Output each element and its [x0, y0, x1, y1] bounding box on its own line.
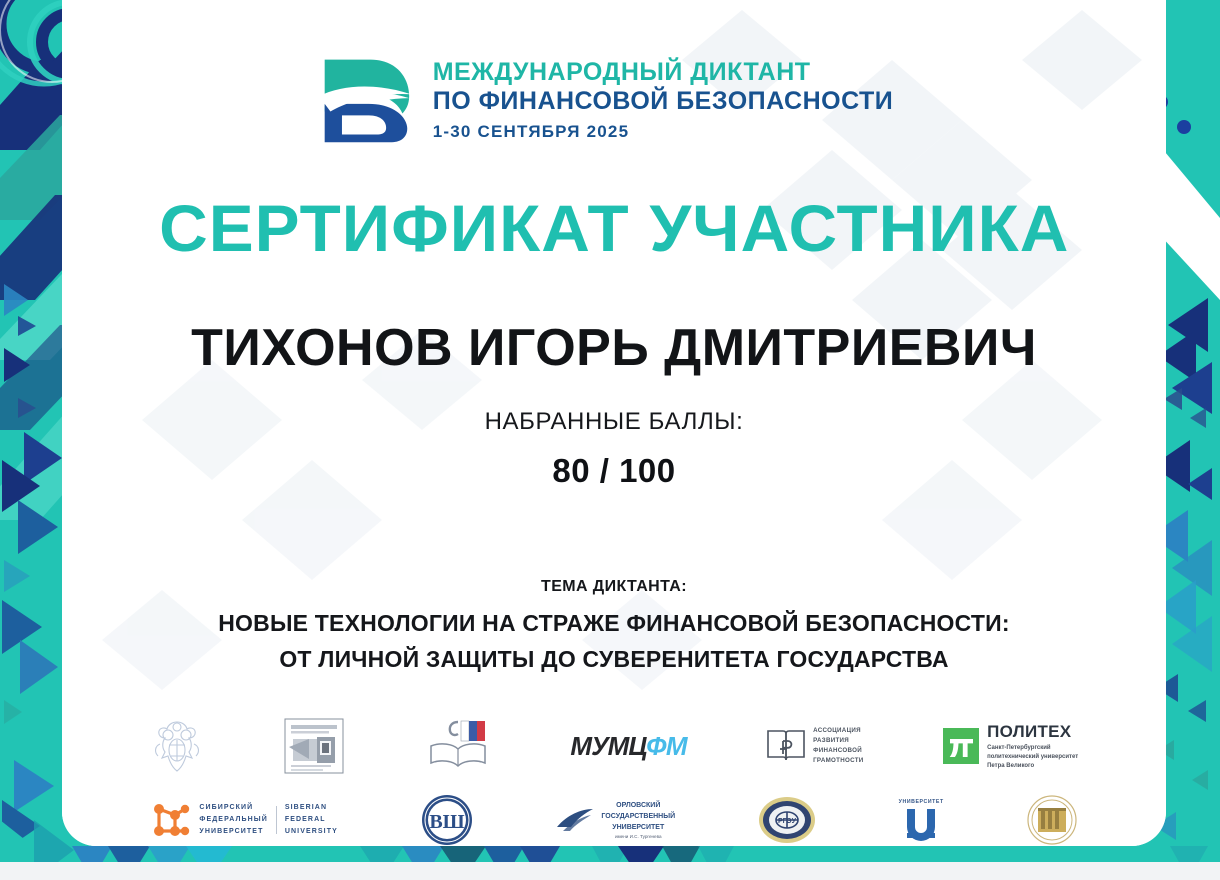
institute-emblem-icon — [283, 717, 345, 775]
partner-logo-hse: ВШ — [421, 789, 473, 846]
orel-text-block: ОРЛОВСКИЙ ГОСУДАРСТВЕННЫЙ УНИВЕРСИТЕТ им… — [601, 800, 675, 841]
sfu-ru-3: УНИВЕРСИТЕТ — [199, 826, 267, 838]
flag-book-emblem-icon — [425, 718, 491, 774]
orel-subtitle: имени И.С. Тургенева — [601, 833, 675, 840]
theme-label: ТЕМА ДИКТАНТА: — [541, 578, 687, 596]
partner-logo-politeh: ПОЛИТЕХ Санкт-Петербургский политехничес… — [943, 715, 1078, 777]
theme-line-2: ОТ ЛИЧНОЙ ЗАЩИТЫ ДО СУВЕРЕНИТЕТА ГОСУДАР… — [279, 646, 948, 673]
sfu-ru-2: ФЕДЕРАЛЬНЫЙ — [199, 814, 267, 826]
card-content: МЕЖДУНАРОДНЫЙ ДИКТАНТ ПО ФИНАНСОВОЙ БЕЗО… — [62, 0, 1166, 846]
score-value: 80 / 100 — [552, 452, 675, 490]
universitet-u-icon — [903, 807, 939, 841]
theme-line-1: НОВЫЕ ТЕХНОЛОГИИ НА СТРАЖЕ ФИНАНСОВОЙ БЕ… — [218, 610, 1009, 637]
sfu-russian-name: СИБИРСКИЙ ФЕДЕРАЛЬНЫЙ УНИВЕРСИТЕТ — [199, 802, 267, 838]
hse-seal-icon: ВШ — [421, 794, 473, 846]
partner-logo-arfg: АССОЦИАЦИЯ РАЗВИТИЯ ФИНАНСОВОЙ ГРАМОТНОС… — [766, 715, 863, 777]
partner-logo-sfu: СИБИРСКИЙ ФЕДЕРАЛЬНЫЙ УНИВЕРСИТЕТ SIBERI… — [151, 789, 338, 846]
sfu-divider — [276, 806, 277, 834]
politeh-pi-icon — [943, 728, 979, 764]
politeh-subtitle: Санкт-Петербургский политехнический унив… — [987, 744, 1078, 771]
brand-line-1: МЕЖДУНАРОДНЫЙ ДИКТАНТ — [433, 60, 894, 85]
partner-logo-universitet: УНИВЕРСИТЕТ — [899, 789, 944, 846]
arfg-line-1: АССОЦИАЦИЯ — [813, 726, 863, 736]
politeh-sub-1: Санкт-Петербургский — [987, 744, 1078, 753]
partner-logo-training-center — [425, 715, 491, 777]
politeh-sub-2: политехнический университет — [987, 753, 1078, 762]
certificate-card: МЕЖДУНАРОДНЫЙ ДИКТАНТ ПО ФИНАНСОВОЙ БЕЗО… — [62, 0, 1166, 846]
diktant-d-mark-icon — [317, 52, 413, 148]
mumcfm-text-highlight: ФМ — [646, 731, 686, 761]
partner-logos: МУМЦФМ АССОЦИАЦИЯ РАЗВИТИЯ — [62, 715, 1166, 846]
svg-text:РГЭУ: РГЭУ — [778, 818, 797, 825]
orel-wing-icon — [555, 807, 595, 833]
orel-line-1: ОРЛОВСКИЙ — [601, 800, 675, 811]
certificate-canvas: МЕЖДУНАРОДНЫЙ ДИКТАНТ ПО ФИНАНСОВОЙ БЕЗО… — [0, 0, 1220, 880]
politeh-title: ПОЛИТЕХ — [987, 722, 1078, 742]
mumcfm-text-main: МУМЦ — [570, 731, 646, 761]
sfu-en-1: SIBERIAN — [285, 802, 338, 814]
sfu-en-3: UNIVERSITY — [285, 826, 338, 838]
russian-coat-of-arms-icon — [150, 718, 204, 774]
certificate-title: СЕРТИФИКАТ УЧАСТНИКА — [159, 190, 1069, 266]
event-branding: МЕЖДУНАРОДНЫЙ ДИКТАНТ ПО ФИНАНСОВОЙ БЕЗО… — [317, 52, 894, 148]
brand-line-2: ПО ФИНАНСОВОЙ БЕЗОПАСНОСТИ — [433, 89, 894, 114]
arfg-text-block: АССОЦИАЦИЯ РАЗВИТИЯ ФИНАНСОВОЙ ГРАМОТНОС… — [813, 726, 863, 767]
partner-logo-orel-university: ОРЛОВСКИЙ ГОСУДАРСТВЕННЫЙ УНИВЕРСИТЕТ им… — [555, 789, 675, 846]
sfu-molecule-icon — [151, 801, 191, 839]
partner-logo-row-1: МУМЦФМ АССОЦИАЦИЯ РАЗВИТИЯ — [110, 715, 1118, 777]
arfg-line-4: ГРАМОТНОСТИ — [813, 756, 863, 766]
mumcfm-wordmark: МУМЦФМ — [570, 731, 686, 762]
partner-logo-institute — [283, 715, 345, 777]
brand-dates: 1-30 СЕНТЯБРЯ 2025 — [433, 123, 894, 140]
recipient-name: ТИХОНОВ ИГОРЬ ДМИТРИЕВИЧ — [191, 318, 1037, 378]
politeh-sub-3: Петра Великого — [987, 762, 1078, 771]
arfg-book-ruble-icon — [766, 727, 806, 765]
arfg-line-3: ФИНАНСОВОЙ — [813, 746, 863, 756]
svg-text:ВШ: ВШ — [429, 811, 464, 833]
arfg-line-2: РАЗВИТИЯ — [813, 736, 863, 746]
orel-line-3: УНИВЕРСИТЕТ — [601, 822, 675, 833]
gold-round-seal-icon — [1027, 795, 1077, 845]
sfu-english-name: SIBERIAN FEDERAL UNIVERSITY — [285, 802, 338, 838]
partner-logo-mumcfm: МУМЦФМ — [570, 715, 686, 777]
partner-logo-rosfinmonitoring — [150, 715, 204, 777]
partner-logo-gold-seal — [1027, 789, 1077, 846]
score-label: НАБРАННЫЕ БАЛЛЫ: — [485, 408, 744, 436]
rgeu-rinh-seal-icon: РГЭУ — [758, 796, 816, 844]
partner-logo-row-2: СИБИРСКИЙ ФЕДЕРАЛЬНЫЙ УНИВЕРСИТЕТ SIBERI… — [110, 789, 1118, 846]
orel-line-2: ГОСУДАРСТВЕННЫЙ — [601, 811, 675, 822]
partner-logo-rgeu-rinh: РГЭУ — [758, 789, 816, 846]
universitet-caption: УНИВЕРСИТЕТ — [899, 799, 944, 805]
sfu-en-2: FEDERAL — [285, 814, 338, 826]
sfu-ru-1: СИБИРСКИЙ — [199, 802, 267, 814]
